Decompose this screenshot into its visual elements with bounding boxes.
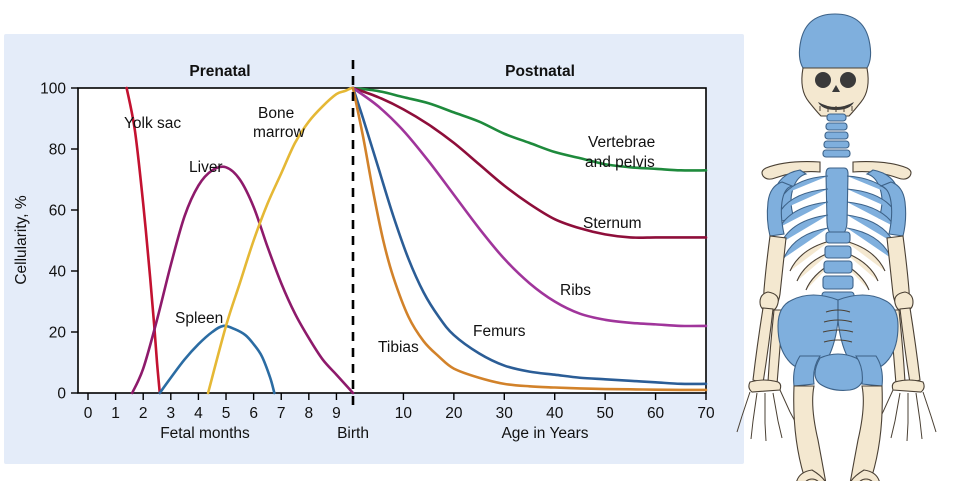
skull-orbit-left-icon [815, 72, 831, 88]
x-tick-label-month-6: 6 [249, 405, 258, 422]
x-tick-label-month-2: 2 [139, 405, 148, 422]
sternum-icon [826, 168, 848, 242]
x-tick-label-year-10: 10 [395, 405, 413, 422]
femur-left-shaft-icon [794, 386, 830, 481]
curve-label-bone: Bone [258, 105, 294, 122]
curve-label-vertebrae: Vertebrae [588, 134, 655, 151]
y-tick-label-40: 40 [49, 264, 67, 281]
x-tick-label-month-3: 3 [167, 405, 176, 422]
x-tick-label-month-9: 9 [332, 405, 341, 422]
lumbar-vertebrae-icon [822, 232, 854, 305]
skull-orbit-right-icon [840, 72, 856, 88]
curve-label-marrow: marrow [253, 124, 305, 141]
hand-right-icon [876, 380, 936, 441]
curve-label-liver: Liver [189, 159, 223, 176]
cervical-vertebrae-icon [823, 114, 850, 157]
x-tick-label-year-70: 70 [697, 405, 715, 422]
femur-right-shaft-icon [846, 386, 882, 481]
curve-label-tibias: Tibias [378, 339, 419, 356]
postnatal-section-title: Postnatal [505, 63, 575, 80]
curve-label-and-pelvis: and pelvis [585, 154, 655, 171]
x-tick-label-month-8: 8 [305, 405, 314, 422]
chart-panel: Prenatal Postnatal 020406080100 Cellular… [4, 34, 744, 464]
x-tick-label-year-20: 20 [445, 405, 463, 422]
x-tick-label-month-0: 0 [84, 405, 93, 422]
pelvis-pubis-icon [815, 354, 864, 390]
curve-label-ribs: Ribs [560, 282, 591, 299]
x-tick-label-year-30: 30 [496, 405, 514, 422]
curve-label-femurs: Femurs [473, 323, 526, 340]
x-axis-title-postnatal: Age in Years [501, 425, 588, 442]
y-tick-label-100: 100 [40, 81, 66, 98]
hematopoiesis-cellularity-figure: Prenatal Postnatal 020406080100 Cellular… [0, 0, 959, 481]
x-axis-title-prenatal: Fetal months [160, 425, 250, 442]
curve-label-sternum: Sternum [583, 215, 642, 232]
y-axis-title: Cellularity, % [13, 195, 30, 285]
x-tick-label-month-5: 5 [222, 405, 231, 422]
y-tick-label-60: 60 [49, 203, 67, 220]
y-tick-label-20: 20 [49, 325, 67, 342]
x-tick-label-month-1: 1 [111, 405, 120, 422]
y-tick-label-80: 80 [49, 142, 67, 159]
y-tick-label-0: 0 [57, 386, 66, 403]
hand-left-icon [737, 380, 797, 441]
x-tick-label-year-60: 60 [647, 405, 665, 422]
x-tick-label-month-7: 7 [277, 405, 286, 422]
prenatal-section-title: Prenatal [189, 63, 250, 80]
birth-axis-label: Birth [337, 425, 369, 442]
curve-label-yolk-sac: Yolk sac [124, 115, 181, 132]
x-tick-label-month-4: 4 [194, 405, 203, 422]
skeleton-illustration [737, 14, 936, 481]
x-tick-label-year-40: 40 [546, 405, 564, 422]
curve-label-spleen: Spleen [175, 310, 223, 327]
x-tick-label-year-50: 50 [597, 405, 615, 422]
skull-cranium-icon [799, 14, 870, 68]
